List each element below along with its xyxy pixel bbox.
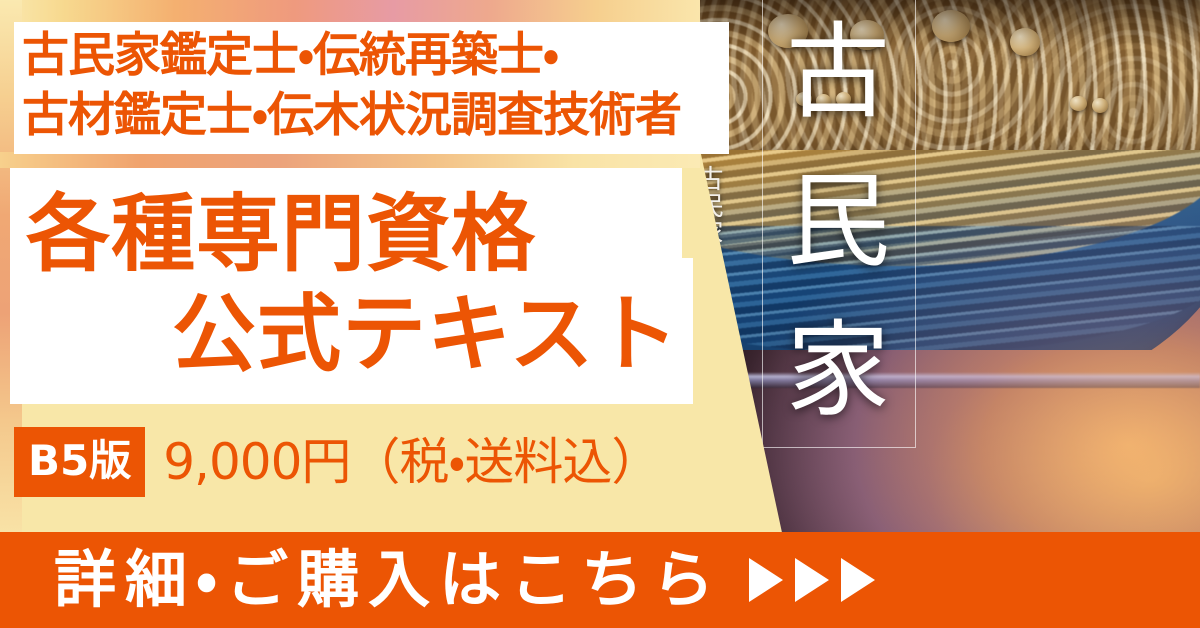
- chevron-right-icon: [795, 558, 829, 602]
- cover-title-char-2: 民: [786, 171, 890, 275]
- headline-line-2: 古材鑑定士・伝木状況調査技術者: [14, 86, 729, 146]
- main-title-line-1: 各種専門資格: [26, 192, 536, 276]
- headline-line-1: 古民家鑑定士・伝統再築士・: [14, 26, 729, 86]
- cover-title-char-3: 家: [786, 320, 890, 424]
- chevron-right-icon: [749, 558, 783, 602]
- chevron-right-icon: [841, 558, 875, 602]
- cta-arrows: [749, 558, 875, 602]
- cover-title: 古 民 家: [762, 6, 914, 446]
- cover-title-char-1: 古: [786, 22, 890, 126]
- headline-block: 古民家鑑定士・伝統再築士・ 古材鑑定士・伝木状況調査技術者: [14, 26, 729, 145]
- warm-gradient-divider: [0, 152, 700, 168]
- format-badge: B5版: [14, 427, 145, 497]
- cta-label: 詳細・ご購入はこちら: [54, 549, 723, 611]
- main-title-line-2: 公式テキスト: [172, 292, 679, 376]
- price-row: B5版 9,000円（税・送料込）: [14, 424, 660, 500]
- price-text: 9,000円（税・送料込）: [163, 437, 660, 487]
- cta-bar[interactable]: 詳細・ご購入はこちら: [0, 532, 1200, 628]
- promo-banner: 古 民 家 伝統構法 古民家活用のための調査と再生の 古民家鑑定士・伝統再築士・…: [0, 0, 1200, 628]
